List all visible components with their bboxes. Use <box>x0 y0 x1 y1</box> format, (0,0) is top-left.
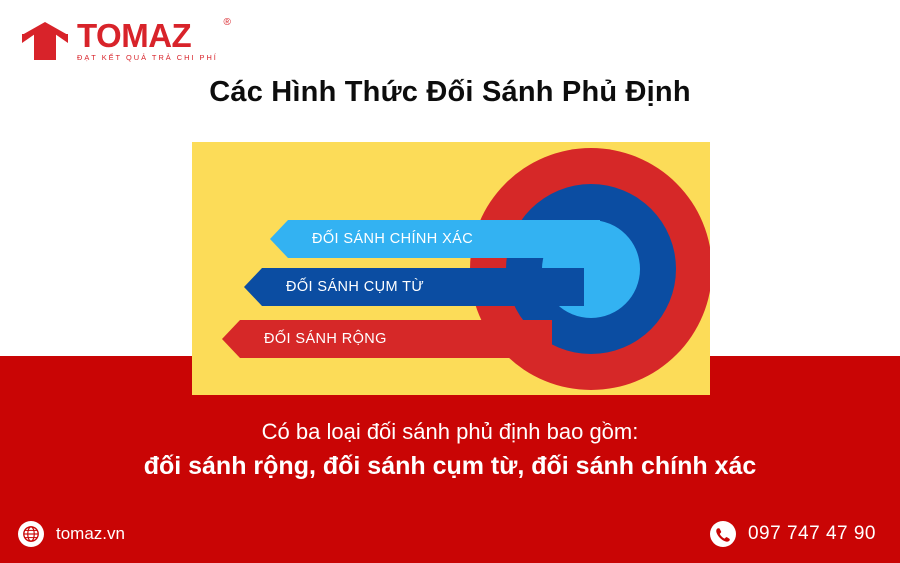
brand-logo: TOMAZ ® ĐẠT KẾT QUẢ TRẢ CHI PHÍ <box>22 16 218 64</box>
footer-phone[interactable]: 097 747 47 90 <box>710 521 876 547</box>
arrow-broad-match-label: ĐỐI SÁNH RỘNG <box>264 331 387 347</box>
page-title: Các Hình Thức Đối Sánh Phủ Định <box>0 76 900 109</box>
diagram-panel: ĐỐI SÁNH CHÍNH XÁC ĐỐI SÁNH CỤM TỪ ĐỐI S… <box>192 142 710 395</box>
arrow-broad-match: ĐỐI SÁNH RỘNG <box>222 320 552 358</box>
arrow-exact-match-label: ĐỐI SÁNH CHÍNH XÁC <box>312 231 473 247</box>
tomaz-arrow-icon <box>22 16 68 64</box>
website-label: tomaz.vn <box>56 524 125 544</box>
registered-mark: ® <box>224 17 231 28</box>
phone-label: 097 747 47 90 <box>748 523 876 545</box>
phone-icon <box>710 521 736 547</box>
globe-icon <box>18 521 44 547</box>
brand-tagline: ĐẠT KẾT QUẢ TRẢ CHI PHÍ <box>77 53 218 62</box>
arrow-phrase-match: ĐỐI SÁNH CỤM TỪ <box>244 268 584 306</box>
brand-logo-text: TOMAZ ® ĐẠT KẾT QUẢ TRẢ CHI PHÍ <box>77 16 218 62</box>
arrow-phrase-match-label: ĐỐI SÁNH CỤM TỪ <box>286 279 424 295</box>
footer-website[interactable]: tomaz.vn <box>18 521 125 547</box>
caption-line-1: Có ba loại đối sánh phủ định bao gồm: <box>0 419 900 445</box>
brand-name: TOMAZ <box>77 20 218 52</box>
caption-line-2: đối sánh rộng, đối sánh cụm từ, đối sánh… <box>0 452 900 481</box>
infographic-page: TOMAZ ® ĐẠT KẾT QUẢ TRẢ CHI PHÍ Các Hình… <box>0 0 900 563</box>
arrow-exact-match: ĐỐI SÁNH CHÍNH XÁC <box>270 220 600 258</box>
